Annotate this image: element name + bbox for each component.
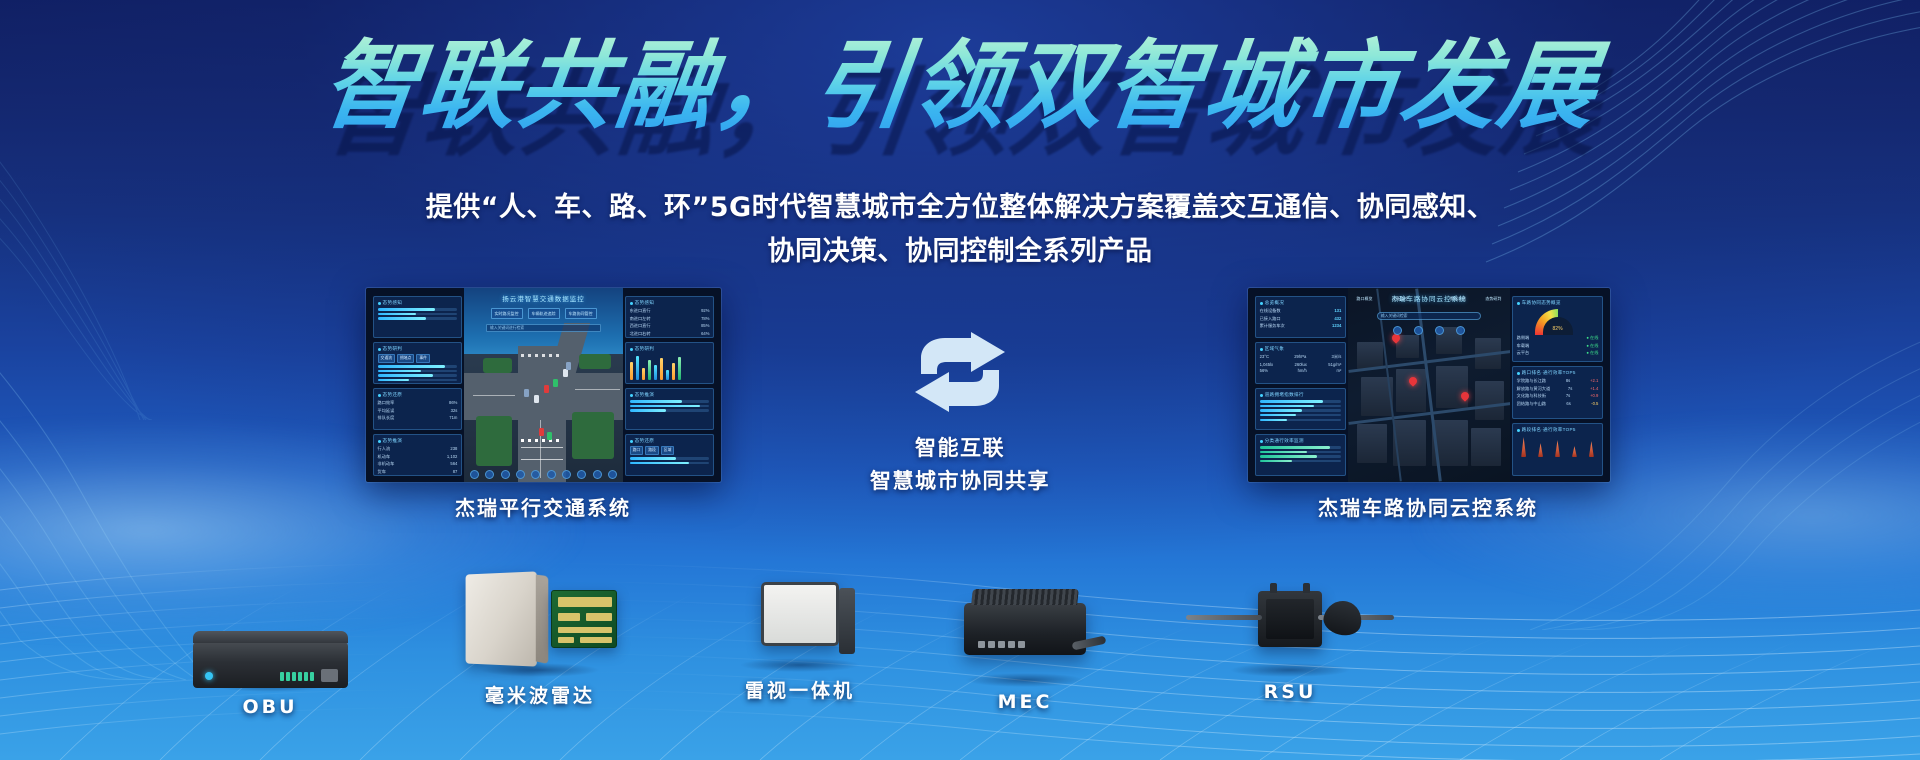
- stat-2-label: 累计服务车次: [1260, 323, 1285, 329]
- mec-edge-server-icon: [925, 575, 1125, 683]
- cloud-control-right-panels: 车路协同态势概览 82% 路侧端● 在线 车载端● 在线 云平台● 在线 路口排…: [1509, 294, 1607, 478]
- mmwave-radar-icon: [430, 565, 650, 673]
- obu-device-icon: [170, 580, 370, 688]
- parallel-traffic-right-panels: 态势感知 东进口直行92% 南进口左转78% 西进口直行85% 北进口右转64%…: [622, 294, 718, 478]
- panel-right-2-title: 态势推演: [630, 392, 710, 398]
- tab-3[interactable]: 态势研判: [1482, 294, 1504, 304]
- cc-panel-left-1[interactable]: 区域气象 23°C29hPa3米/s 1,045lx260lux51g/m³ 5…: [1255, 342, 1347, 384]
- screenshot-parallel-traffic-system[interactable]: 扬云港智慧交通数据监控 实时路况监控 车辆轨迹追踪 车路协同管控 输入关键词进行…: [366, 288, 721, 482]
- cloud-control-search-placeholder: 输入关键词检索: [1381, 314, 1408, 319]
- product-mmwave-radar[interactable]: 毫米波雷达: [430, 565, 650, 708]
- product-rsu-label: RSU: [1175, 681, 1405, 703]
- dock-icon-4[interactable]: [531, 470, 540, 479]
- tab-0[interactable]: 路口概览: [1354, 294, 1376, 304]
- panel-right-1-title: 态势研判: [630, 346, 710, 352]
- panel-left-2-title: 态势还原: [378, 392, 458, 398]
- toolbar-btn-0[interactable]: 实时路况监控: [491, 308, 523, 319]
- cc-panel-right-2-title: 路段排名·通行效率TOP5: [1517, 427, 1599, 433]
- cc-panel-right-1[interactable]: 路口排名·通行效率TOP5 学院路与长江路8s+2.1 解放路与黄河大道7s+1…: [1512, 366, 1604, 419]
- gauge-value: 82%: [1517, 326, 1599, 332]
- parallel-traffic-toolbar[interactable]: 实时路况监控 车辆轨迹追踪 车路协同管控: [464, 308, 624, 319]
- screenshot-cloud-control-system[interactable]: 杰瑞车路协同云控系统 路口概览 设备监控 . 数据总览 态势研判 输入关键词检索: [1248, 288, 1610, 482]
- page-title: 智联共融，引领双智城市发展: [296, 30, 1624, 143]
- cc-panel-left-0[interactable]: 总览概况 在线设备数 131 已接入路口 432 累计服务车次 1234: [1255, 296, 1347, 338]
- dock-icon-6[interactable]: [562, 470, 571, 479]
- product-mec[interactable]: MEC: [925, 575, 1125, 713]
- product-radar-vision-camera-label: 雷视一体机: [700, 676, 900, 703]
- parallel-traffic-left-panels: 态势感知 态势研判 交通流拥堵点事件 态势还原 路口效率86% 平均延误3: [370, 294, 466, 478]
- panel-right-0-title: 态势感知: [630, 300, 710, 306]
- parallel-traffic-3d-view: 扬云港智慧交通数据监控 实时路况监控 车辆轨迹追踪 车路协同管控 输入关键词进行…: [464, 288, 624, 482]
- stat-0-value: 131: [1334, 308, 1341, 314]
- cc-panel-left-3-title: 分类通行效率监测: [1260, 438, 1342, 444]
- toolbar-btn-1[interactable]: 车辆轨迹追踪: [528, 308, 560, 319]
- rsu-roadside-unit-icon: [1175, 565, 1405, 673]
- dock-icon-9[interactable]: [608, 470, 617, 479]
- stat-1-label: 已接入路口: [1260, 316, 1281, 322]
- parallel-traffic-screen-title: 扬云港智慧交通数据监控: [464, 293, 624, 303]
- dock-icon-8[interactable]: [593, 470, 602, 479]
- product-obu-label: OBU: [170, 696, 370, 718]
- page-subtitle: 提供“人、车、路、环”5G时代智慧城市全方位整体解决方案覆盖交互通信、协同感知、…: [0, 186, 1920, 273]
- cloud-control-filter-icons[interactable]: [1393, 326, 1465, 335]
- interconnect-line-2: 智慧城市协同共享: [760, 465, 1160, 498]
- cc-panel-left-3[interactable]: 分类通行效率监测: [1255, 434, 1347, 476]
- dock-icon-3[interactable]: [516, 470, 525, 479]
- cloud-control-3d-map: 杰瑞车路协同云控系统 路口概览 设备监控 . 数据总览 态势研判 输入关键词检索: [1348, 288, 1511, 482]
- cc-panel-right-0-title: 车路协同态势概览: [1517, 300, 1599, 306]
- filter-icon-people[interactable]: [1393, 326, 1402, 335]
- parallel-traffic-search-placeholder: 输入关键词进行检索: [490, 326, 524, 331]
- subtitle-line-2: 协同决策、协同控制全系列产品: [0, 230, 1920, 274]
- panel-left-0[interactable]: 态势感知: [373, 296, 463, 338]
- dock-icon-5[interactable]: [547, 470, 556, 479]
- tab-1[interactable]: 设备监控: [1389, 294, 1411, 304]
- panel-left-3-title: 态势推演: [378, 438, 458, 444]
- dock-icon-1[interactable]: [485, 470, 494, 479]
- subtitle-line-1: 提供“人、车、路、环”5G时代智慧城市全方位整体解决方案覆盖交互通信、协同感知、: [426, 192, 1494, 223]
- caption-cloud-control-system: 杰瑞车路协同云控系统: [1168, 492, 1688, 521]
- page-title-wrap: 智联共融，引领双智城市发展: [0, 30, 1920, 143]
- product-obu[interactable]: OBU: [170, 580, 370, 718]
- exchange-arrows-icon: [913, 330, 1007, 414]
- cc-panel-right-2[interactable]: 路段排名·通行效率TOP5: [1512, 423, 1604, 476]
- radar-vision-camera-icon: [700, 560, 900, 668]
- interconnect-text: 智能互联 智慧城市协同共享: [760, 432, 1160, 497]
- cc-panel-left-2[interactable]: 道路拥堵指数排行: [1255, 388, 1347, 430]
- interconnect-line-1: 智能互联: [760, 432, 1160, 465]
- product-rsu[interactable]: RSU: [1175, 565, 1405, 703]
- cloud-control-left-panels: 总览概况 在线设备数 131 已接入路口 432 累计服务车次 1234 区域气…: [1252, 294, 1350, 478]
- panel-right-3-title: 态势还原: [630, 438, 710, 444]
- cc-panel-right-1-title: 路口排名·通行效率TOP5: [1517, 370, 1599, 376]
- banner-stage: 智联共融，引领双智城市发展 智联共融，引领双智城市发展 提供“人、车、路、环”5…: [0, 0, 1920, 760]
- stat-1-value: 432: [1334, 316, 1341, 322]
- cc-panel-right-0[interactable]: 车路协同态势概览 82% 路侧端● 在线 车载端● 在线 云平台● 在线: [1512, 296, 1604, 362]
- panel-left-3[interactable]: 态势推演 行人流238 机动车1,102 非机动车564 货车87: [373, 434, 463, 476]
- toolbar-btn-2[interactable]: 车路协同管控: [565, 308, 597, 319]
- tab-2[interactable]: 数据总览: [1447, 294, 1469, 304]
- filter-icon-cloud[interactable]: [1456, 326, 1465, 335]
- product-mec-label: MEC: [925, 691, 1125, 713]
- parallel-traffic-search[interactable]: 输入关键词进行检索: [486, 324, 601, 332]
- panel-right-1[interactable]: 态势研判: [625, 342, 715, 384]
- panel-right-2[interactable]: 态势推演: [625, 388, 715, 430]
- cloud-control-search[interactable]: 输入关键词检索: [1377, 312, 1481, 320]
- dock-icon-2[interactable]: [501, 470, 510, 479]
- cc-panel-left-2-title: 道路拥堵指数排行: [1260, 392, 1342, 398]
- product-mmwave-radar-label: 毫米波雷达: [430, 681, 650, 708]
- interconnect-block: 智能互联 智慧城市协同共享: [760, 330, 1160, 497]
- cloud-control-tabs[interactable]: 路口概览 设备监控 . 数据总览 态势研判: [1348, 294, 1511, 304]
- panel-right-3[interactable]: 态势还原 路口路段区域: [625, 434, 715, 476]
- panel-left-2[interactable]: 态势还原 路口效率86% 平均延误32s 排队长度71m: [373, 388, 463, 430]
- cc-panel-left-1-title: 区域气象: [1260, 346, 1342, 352]
- panel-left-0-title: 态势感知: [378, 300, 458, 306]
- stat-2-value: 1234: [1332, 323, 1341, 329]
- panel-left-1-title: 态势研判: [378, 346, 458, 352]
- dock-icon-0[interactable]: [470, 470, 479, 479]
- parallel-traffic-dock[interactable]: [470, 470, 617, 479]
- caption-parallel-traffic-system: 杰瑞平行交通系统: [283, 492, 803, 521]
- panel-left-1[interactable]: 态势研判 交通流拥堵点事件: [373, 342, 463, 384]
- stat-0-label: 在线设备数: [1260, 308, 1281, 314]
- filter-icon-vehicle[interactable]: [1414, 326, 1423, 335]
- dock-icon-7[interactable]: [577, 470, 586, 479]
- product-radar-vision-camera[interactable]: 雷视一体机: [700, 560, 900, 703]
- filter-icon-road[interactable]: [1435, 326, 1444, 335]
- panel-right-0[interactable]: 态势感知 东进口直行92% 南进口左转78% 西进口直行85% 北进口右转64%: [625, 296, 715, 338]
- cc-panel-left-0-title: 总览概况: [1260, 300, 1342, 306]
